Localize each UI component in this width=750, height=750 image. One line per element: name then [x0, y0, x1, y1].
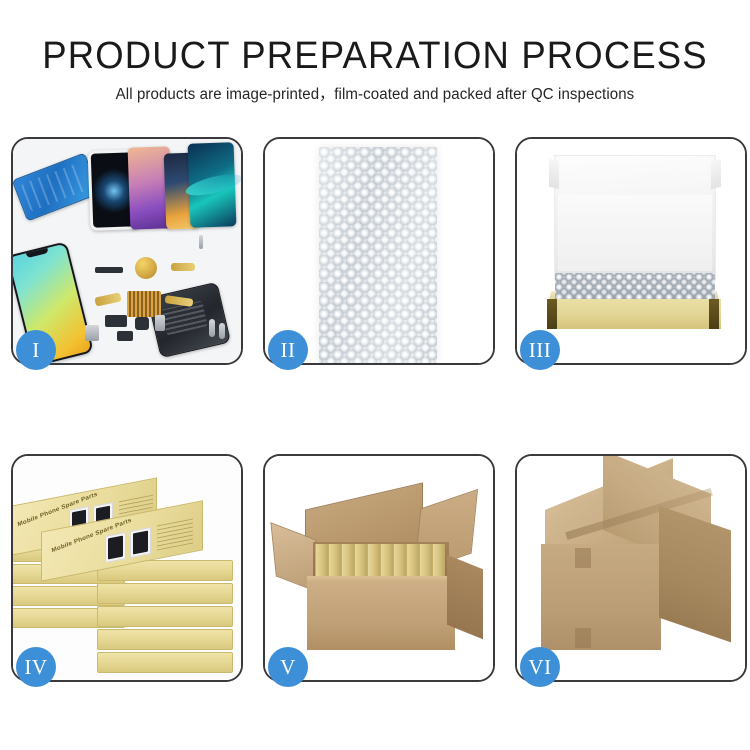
box-foam-liner — [558, 195, 712, 271]
part-vibrator — [117, 331, 133, 341]
part-sim-tray — [155, 315, 165, 331]
header: PRODUCT PREPARATION PROCESS All products… — [0, 0, 750, 105]
sealed-carton-front — [541, 544, 661, 650]
bubble-wrap-sheet — [319, 147, 437, 363]
sealed-carton-side — [659, 506, 731, 643]
phone-teal — [188, 142, 237, 228]
product-preparation-infographic: PRODUCT PREPARATION PROCESS All products… — [0, 0, 750, 750]
part-connector — [85, 325, 99, 341]
carton-side-panel — [447, 555, 483, 640]
part-flex-cable-1 — [171, 263, 195, 271]
step-badge-2: II — [268, 330, 308, 370]
part-speaker — [135, 317, 149, 330]
page-subtitle: All products are image-printed，film-coat… — [11, 85, 739, 105]
part-screw-2 — [219, 323, 225, 339]
step-image-6 — [517, 456, 745, 680]
box-thumbnail-4 — [130, 527, 151, 558]
step-image-2 — [265, 139, 493, 363]
step-image-3 — [517, 139, 745, 363]
part-screw-1 — [209, 319, 215, 337]
stacked-box — [97, 652, 233, 673]
box-right-corner — [709, 299, 719, 329]
part-battery-strip — [95, 267, 123, 273]
box-stack: Mobile Phone Spare Parts Mobile Phone Sp… — [13, 456, 241, 680]
scene-product-showcase — [13, 139, 241, 363]
step-card-4[interactable]: Mobile Phone Spare Parts Mobile Phone Sp… — [11, 454, 243, 682]
step-card-6[interactable]: VI — [515, 454, 747, 682]
step-card-3[interactable]: III — [515, 137, 747, 365]
step-image-5 — [265, 456, 493, 680]
scene-carton-sealed — [517, 456, 745, 680]
step-badge-1: I — [16, 330, 56, 370]
tape-patch-top — [575, 548, 591, 568]
stacked-box — [97, 606, 233, 627]
box-thumbnail-3 — [105, 532, 126, 563]
carton-front-panel — [307, 582, 455, 650]
scene-box-stack: Mobile Phone Spare Parts Mobile Phone Sp… — [13, 456, 241, 680]
box-front-panel — [547, 299, 721, 329]
step-card-1[interactable]: I — [11, 137, 243, 365]
part-flex-cable-2 — [94, 292, 121, 306]
tape-patch-bottom — [575, 628, 591, 648]
stacked-box — [97, 583, 233, 604]
step-image-1 — [13, 139, 241, 363]
step-badge-4: IV — [16, 647, 56, 687]
step-card-2[interactable]: II — [263, 137, 495, 365]
box-bubble-contents — [555, 273, 715, 301]
part-logic-board — [127, 291, 161, 317]
scene-inner-box — [517, 139, 745, 363]
part-tool-tweezers — [199, 235, 203, 249]
box-left-corner — [547, 299, 557, 329]
process-step-grid: I II — [11, 137, 739, 682]
step-card-5[interactable]: V — [263, 454, 495, 682]
scene-carton-loading — [265, 456, 493, 680]
stacked-box — [97, 629, 233, 650]
scene-bubble-wrap — [265, 139, 493, 363]
step-badge-3: III — [520, 330, 560, 370]
step-badge-5: V — [268, 647, 308, 687]
part-gold-coil — [135, 257, 157, 279]
step-badge-6: VI — [520, 647, 560, 687]
page-title: PRODUCT PREPARATION PROCESS — [15, 34, 735, 78]
step-image-4: Mobile Phone Spare Parts Mobile Phone Sp… — [13, 456, 241, 680]
part-camera-module — [105, 315, 127, 327]
